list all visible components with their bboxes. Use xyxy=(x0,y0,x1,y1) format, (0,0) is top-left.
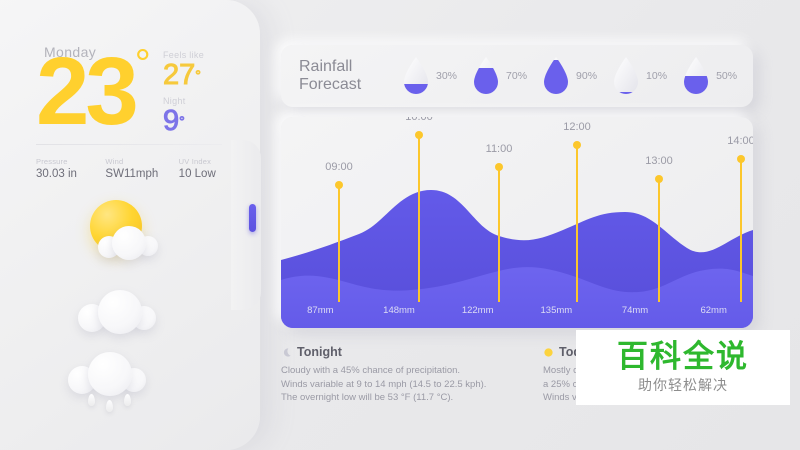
chart-time-label: 14:00 xyxy=(727,135,753,147)
tonight-line: The overnight low will be 53 °F (11.7 °C… xyxy=(281,391,531,405)
moon-icon xyxy=(281,347,292,358)
marker-dot xyxy=(655,175,663,183)
chart-value-label: 148mm xyxy=(360,305,439,316)
marker-dot xyxy=(573,141,581,149)
rain-cloud-icon xyxy=(66,352,162,422)
marker-dot xyxy=(495,163,503,171)
droplet-percent: 70% xyxy=(506,70,527,82)
rainfall-title: Rainfall Forecast xyxy=(299,58,387,94)
cloud-puff-main xyxy=(88,352,132,396)
droplet-list: 30%70%90%10%50% xyxy=(401,56,737,96)
watermark-main-text: 百科全说 xyxy=(617,340,749,374)
marker-dot xyxy=(737,155,745,163)
rainfall-title-line2: Forecast xyxy=(299,76,387,94)
weather-stats-row: Pressure 30.03 in Wind SW11mph UV Index … xyxy=(36,157,236,180)
droplet-item: 10% xyxy=(611,56,667,96)
marker-stem xyxy=(498,167,500,302)
stat-uv-index: UV Index 10 Low xyxy=(179,157,236,180)
current-temperature: 23° xyxy=(36,44,151,140)
chart-time-label: 10:00 xyxy=(405,117,433,123)
cloud-icon xyxy=(76,290,172,342)
night-degree: ° xyxy=(179,113,185,129)
tonight-line: Cloudy with a 45% chance of precipitatio… xyxy=(281,364,531,378)
marker-stem xyxy=(740,159,742,302)
feels-like-value: 27 xyxy=(163,59,195,91)
droplet-percent: 10% xyxy=(646,70,667,82)
chart-value-labels: 87mm148mm122mm135mm74mm62mm xyxy=(281,305,753,316)
night-value: 9 xyxy=(163,105,179,137)
raindrop-icon xyxy=(88,394,95,406)
feels-like-block: Feels like 27° xyxy=(163,50,204,90)
tonight-title: Tonight xyxy=(297,345,342,359)
droplet-icon xyxy=(541,56,571,96)
chart-time-label: 12:00 xyxy=(563,121,591,133)
feels-like-degree: ° xyxy=(195,67,201,83)
chart-time-label: 13:00 xyxy=(645,155,673,167)
stat-pressure: Pressure 30.03 in xyxy=(36,157,91,180)
tonight-header: Tonight xyxy=(281,345,531,359)
droplet-icon xyxy=(611,56,641,96)
chart-time-label: 11:00 xyxy=(486,143,513,155)
stat-wind: Wind SW11mph xyxy=(105,157,164,180)
tonight-line: Winds variable at 9 to 14 mph (14.5 to 2… xyxy=(281,378,531,392)
rainfall-chart-card: 87mm148mm122mm135mm74mm62mm 09:0010:0011… xyxy=(281,117,753,328)
weather-dashboard: Monday 23° Feels like 27° Night 9° Press… xyxy=(0,0,800,450)
sun-behind-cloud-icon xyxy=(84,200,174,270)
stat-uv-index-value: 10 Low xyxy=(179,168,236,180)
marker-dot xyxy=(335,181,343,189)
droplet-item: 90% xyxy=(541,56,597,96)
rainfall-title-line1: Rainfall xyxy=(299,58,387,76)
panel-drag-handle[interactable] xyxy=(249,204,256,232)
droplet-percent: 30% xyxy=(436,70,457,82)
stat-wind-label: Wind xyxy=(105,157,164,166)
watermark-overlay: 百科全说 助你轻松解决 xyxy=(576,330,790,405)
chart-value-label: 122mm xyxy=(438,305,517,316)
droplet-percent: 90% xyxy=(576,70,597,82)
chart-time-label: 09:00 xyxy=(325,161,353,173)
marker-stem xyxy=(658,179,660,302)
chart-value-label: 87mm xyxy=(281,305,360,316)
droplet-icon xyxy=(471,56,501,96)
tonight-body: Cloudy with a 45% chance of precipitatio… xyxy=(281,364,531,405)
degree-symbol: ° xyxy=(135,42,151,86)
rainfall-forecast-card: Rainfall Forecast 30%70%90%10%50% xyxy=(281,45,753,107)
droplet-icon xyxy=(401,56,431,96)
droplet-percent: 50% xyxy=(716,70,737,82)
tonight-summary: Tonight Cloudy with a 45% chance of prec… xyxy=(281,345,531,405)
temperature-value: 23 xyxy=(36,38,135,145)
marker-stem xyxy=(338,185,340,302)
droplet-item: 70% xyxy=(471,56,527,96)
sun-icon xyxy=(543,347,554,358)
stat-uv-index-label: UV Index xyxy=(179,157,236,166)
cloud-puff-main xyxy=(98,290,142,334)
watermark-sub-text: 助你轻松解决 xyxy=(638,375,728,395)
marker-dot xyxy=(415,131,423,139)
panel-divider xyxy=(36,144,222,145)
droplet-item: 50% xyxy=(681,56,737,96)
chart-plot-area: 87mm148mm122mm135mm74mm62mm 09:0010:0011… xyxy=(281,117,753,328)
feels-like-value-wrap: 27° xyxy=(163,60,204,90)
marker-stem xyxy=(576,145,578,302)
chart-value-label: 74mm xyxy=(596,305,675,316)
chart-value-label: 62mm xyxy=(674,305,753,316)
droplet-item: 30% xyxy=(401,56,457,96)
stat-pressure-value: 30.03 in xyxy=(36,168,91,180)
marker-stem xyxy=(418,135,420,302)
chart-value-label: 135mm xyxy=(517,305,596,316)
raindrop-icon xyxy=(106,400,113,412)
stat-wind-value: SW11mph xyxy=(105,168,164,180)
raindrop-icon xyxy=(124,394,131,406)
night-block: Night 9° xyxy=(163,96,186,136)
droplet-icon xyxy=(681,56,711,96)
cloud-puff-main xyxy=(112,226,146,260)
stat-pressure-label: Pressure xyxy=(36,157,91,166)
rainfall-area-chart xyxy=(281,168,753,328)
night-value-wrap: 9° xyxy=(163,106,186,136)
